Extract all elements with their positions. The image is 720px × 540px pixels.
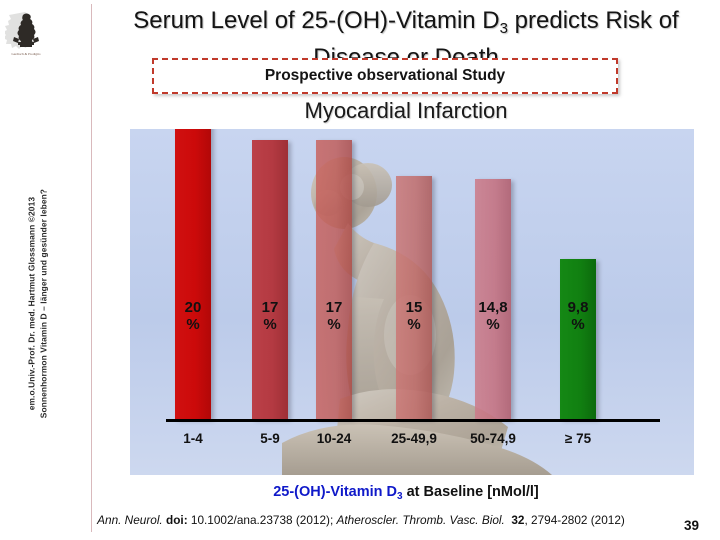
bar-6-number: 9,8 — [560, 299, 596, 316]
x-axis-labels: 1-4 5-9 10-24 25-49,9 50-74,9 ≥ 75 — [130, 431, 694, 453]
citation-pages: , 2794-2802 (2012) — [525, 513, 625, 527]
sidebar-credit-line2: Sonnenhormon Vitamin D – länger und gesü… — [38, 134, 50, 474]
x-label-6: ≥ 75 — [538, 431, 618, 446]
x-axis-title: 25-(OH)-Vitamin D3 at Baseline [nMol/l] — [92, 484, 720, 502]
chart-subtitle: Myocardial Infarction — [92, 98, 720, 124]
sidebar-divider — [91, 4, 92, 532]
title-line1-pre: Serum Level of 25-(OH)-Vitamin D — [133, 7, 499, 34]
bar-4-number: 15 — [396, 299, 432, 316]
citation-doi-label: doi: — [166, 513, 188, 527]
title-subscript-3: 3 — [500, 20, 508, 37]
bar-5-value: 14,8 % — [475, 299, 511, 333]
bar-3: 17 % — [316, 140, 352, 419]
bar-2-unit: % — [252, 316, 288, 333]
bar-chart: 20 % 17 % 17 % 15 % — [130, 129, 694, 475]
citation-volume: 32 — [511, 513, 524, 527]
bar-6: 9,8 % — [560, 259, 596, 419]
sidebar-author-credit: em.o.Univ.-Prof. Dr. med. Hartmut Glossm… — [26, 134, 49, 474]
bar-3-value: 17 % — [316, 299, 352, 333]
bar-4-unit: % — [396, 316, 432, 333]
bar-6-value: 9,8 % — [560, 299, 596, 333]
bar-1-unit: % — [175, 316, 211, 333]
x-label-3: 10-24 — [294, 431, 374, 446]
bar-3-unit: % — [316, 316, 352, 333]
plot-area: 20 % 17 % 17 % 15 % — [130, 129, 694, 475]
bar-2-value: 17 % — [252, 299, 288, 333]
bar-4-value: 15 % — [396, 299, 432, 333]
citation: Ann. Neurol. doi: 10.1002/ana.23738 (201… — [46, 513, 676, 527]
title-line1-post: predicts Risk of — [508, 7, 679, 34]
bar-1: 20 % — [175, 129, 211, 419]
bar-1-value: 20 % — [175, 299, 211, 333]
citation-journal-1: Ann. Neurol. — [97, 513, 163, 527]
bar-4: 15 % — [396, 176, 432, 419]
page-number: 39 — [684, 518, 699, 533]
x-axis-line — [166, 419, 660, 422]
axis-title-blue: 25-(OH)-Vitamin D — [273, 484, 397, 500]
study-type-banner: Prospective observational Study — [152, 58, 618, 94]
bar-2-number: 17 — [252, 299, 288, 316]
bar-1-number: 20 — [175, 299, 211, 316]
sidebar: Gardisch & Prodigiis em.o.Univ.-Prof. Dr… — [0, 0, 92, 540]
woodcut-emblem-icon — [5, 9, 47, 51]
bar-5-number: 14,8 — [475, 299, 511, 316]
slide: Gardisch & Prodigiis em.o.Univ.-Prof. Dr… — [0, 0, 720, 540]
bar-3-number: 17 — [316, 299, 352, 316]
publisher-logo: Gardisch & Prodigiis — [4, 4, 48, 56]
bar-2: 17 % — [252, 140, 288, 419]
citation-doi-value: 10.1002/ana.23738 (2012); — [188, 513, 337, 527]
x-label-5: 50-74,9 — [448, 431, 538, 446]
logo-caption: Gardisch & Prodigiis — [11, 52, 40, 56]
citation-journal-2: Atheroscler. Thromb. Vasc. Biol. — [337, 513, 505, 527]
bar-5: 14,8 % — [475, 179, 511, 419]
study-type-label: Prospective observational Study — [265, 67, 505, 85]
x-label-4: 25-49,9 — [369, 431, 459, 446]
x-label-1: 1-4 — [153, 431, 233, 446]
sidebar-credit-line1: em.o.Univ.-Prof. Dr. med. Hartmut Glossm… — [26, 134, 38, 474]
axis-title-black: at Baseline [nMol/l] — [403, 484, 539, 500]
bar-6-unit: % — [560, 316, 596, 333]
bar-5-unit: % — [475, 316, 511, 333]
